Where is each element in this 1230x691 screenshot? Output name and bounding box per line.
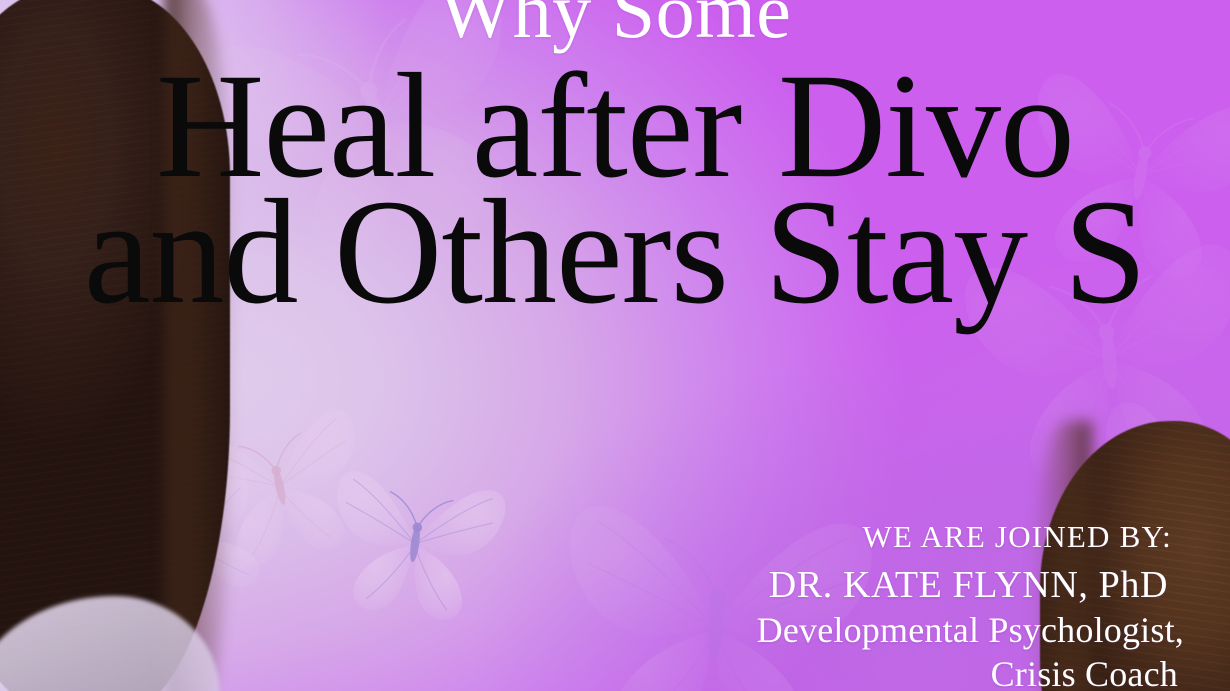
- speaker-role-line-2: Crisis Coach: [644, 651, 1204, 691]
- joined-by-label: WE ARE JOINED BY:: [644, 517, 1204, 557]
- poster-canvas: Why Some Heal after Divo and Others Stay…: [0, 0, 1230, 691]
- headline-line-1: Why Some: [0, 0, 1230, 44]
- headline-line-3: and Others Stay S: [0, 176, 1230, 328]
- headline: Why Some Heal after Divo and Others Stay…: [0, 0, 1230, 328]
- speaker-credit-block: WE ARE JOINED BY: DR. KATE FLYNN, PhD De…: [644, 517, 1204, 691]
- speaker-role-line-1: Developmental Psychologist,: [644, 609, 1204, 651]
- speaker-name: DR. KATE FLYNN, PhD: [644, 561, 1204, 609]
